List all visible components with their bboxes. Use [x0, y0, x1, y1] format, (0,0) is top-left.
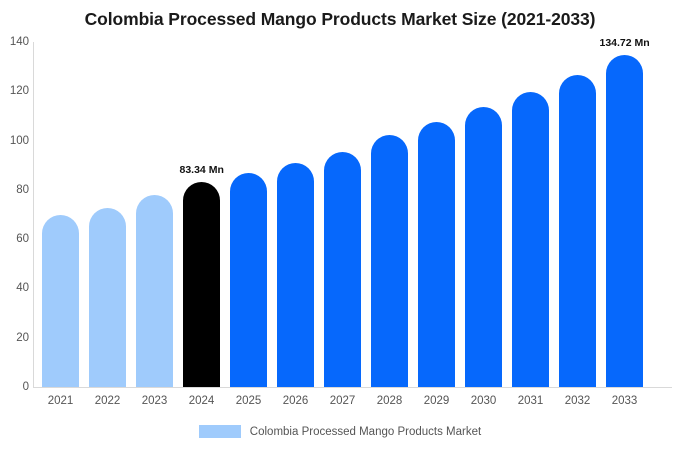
- x-axis-tick-label: 2030: [460, 395, 507, 407]
- x-axis-line: [33, 387, 672, 388]
- bar-2032[interactable]: [559, 75, 596, 387]
- bar-2025[interactable]: [230, 173, 267, 387]
- y-axis-tick-label: 0: [1, 381, 29, 393]
- bar-2023[interactable]: [136, 195, 173, 387]
- y-axis-tick-label: 120: [1, 85, 29, 97]
- y-axis-tick-labels: 020406080100120140: [0, 0, 29, 450]
- bar-value-label-2033: 134.72 Mn: [600, 37, 650, 49]
- y-axis-tick-label: 140: [1, 36, 29, 48]
- x-axis-tick-label: 2033: [601, 395, 648, 407]
- y-axis-tick-label: 40: [1, 282, 29, 294]
- plot-area: [33, 42, 672, 387]
- legend-item-label: Colombia Processed Mango Products Market: [250, 426, 481, 438]
- bar-2031[interactable]: [512, 92, 549, 387]
- bar-2022[interactable]: [89, 208, 126, 387]
- x-axis-tick-label: 2031: [507, 395, 554, 407]
- y-axis-tick-label: 60: [1, 233, 29, 245]
- x-axis-tick-label: 2022: [84, 395, 131, 407]
- x-axis-tick-label: 2027: [319, 395, 366, 407]
- bar-2033[interactable]: [606, 55, 643, 387]
- bar-2027[interactable]: [324, 152, 361, 387]
- chart-page: Colombia Processed Mango Products Market…: [0, 0, 680, 450]
- x-axis-tick-label: 2021: [37, 395, 84, 407]
- legend-swatch-icon: [199, 425, 241, 438]
- bar-2026[interactable]: [277, 163, 314, 387]
- y-axis-tick-label: 20: [1, 332, 29, 344]
- bar-2024[interactable]: [183, 182, 220, 387]
- x-axis-tick-label: 2032: [554, 395, 601, 407]
- x-axis-tick-label: 2024: [178, 395, 225, 407]
- y-axis-tick-label: 100: [1, 135, 29, 147]
- bar-2021[interactable]: [42, 215, 79, 387]
- bar-value-label-2024: 83.34 Mn: [180, 164, 224, 176]
- chart-legend: Colombia Processed Mango Products Market: [0, 425, 680, 438]
- x-axis-tick-label: 2025: [225, 395, 272, 407]
- x-axis-tick-label: 2023: [131, 395, 178, 407]
- x-axis-tick-label: 2028: [366, 395, 413, 407]
- chart-title: Colombia Processed Mango Products Market…: [0, 9, 680, 30]
- y-axis-tick-label: 80: [1, 184, 29, 196]
- bar-2028[interactable]: [371, 135, 408, 387]
- bar-2029[interactable]: [418, 122, 455, 387]
- bar-2030[interactable]: [465, 107, 502, 387]
- x-axis-tick-label: 2029: [413, 395, 460, 407]
- x-axis-tick-label: 2026: [272, 395, 319, 407]
